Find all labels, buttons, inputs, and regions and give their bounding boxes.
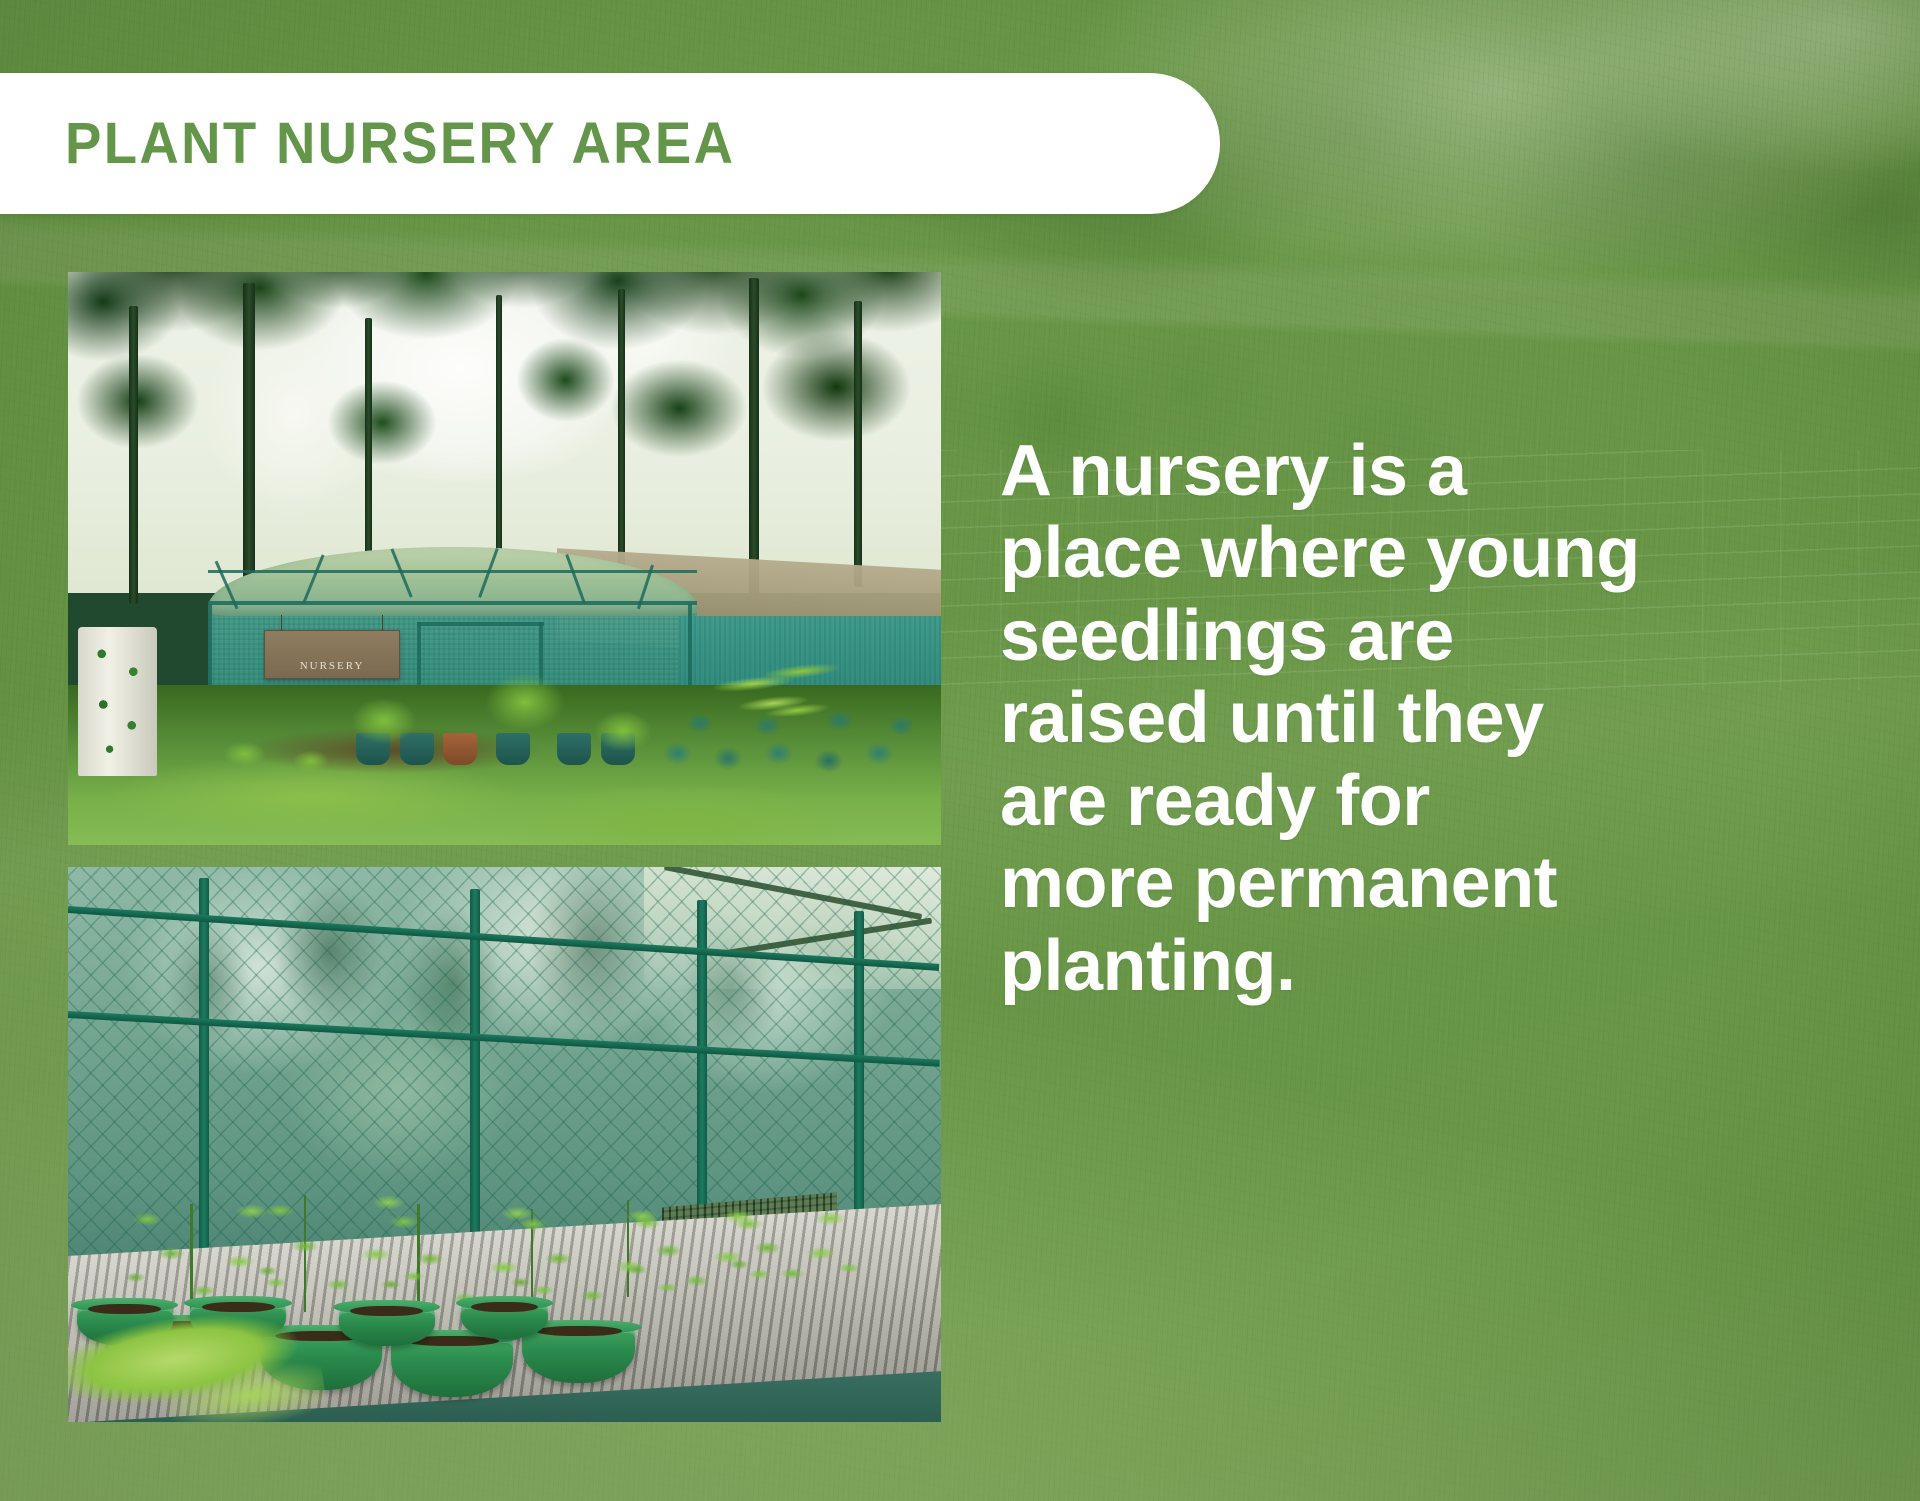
photo-tree-canopy (68, 272, 941, 593)
photo-shrub (339, 689, 429, 753)
photo-green-pot (522, 1329, 635, 1383)
photo-seedling-foliage (714, 1200, 871, 1293)
seedling-pots-photo (68, 867, 941, 1422)
photo-tree-trunk (129, 306, 138, 604)
photo-palm-plant (709, 627, 851, 760)
sign-rope (382, 615, 383, 631)
photo-green-pot (391, 1339, 513, 1398)
body-line: A nursery is a (1000, 430, 1860, 512)
photo-potting-soil (350, 1306, 423, 1316)
photo-tree-trunk (243, 283, 255, 604)
nursery-sign-label: NURSERY (300, 660, 365, 672)
body-line: are ready for (1000, 760, 1860, 842)
body-line: raised until they (1000, 677, 1860, 759)
photo-white-tower-planter (78, 627, 157, 776)
nursery-sign: NURSERY (264, 630, 399, 679)
photo-frame-eave (208, 601, 697, 605)
body-text: A nursery is a place where young seedlin… (1000, 430, 1860, 1007)
photo-frame-door-header (417, 622, 544, 626)
photo-tree-trunk (854, 301, 862, 588)
photo-shrub (286, 746, 336, 776)
body-line: seedlings are (1000, 595, 1860, 677)
page-title: PLANT NURSERY AREA (65, 115, 735, 173)
photo-frame-truss-chord (208, 570, 697, 573)
body-line: place where young (1000, 512, 1860, 594)
title-banner: PLANT NURSERY AREA (0, 73, 1220, 214)
greenhouse-nursery-photo: NURSERY (68, 272, 941, 845)
photo-shrub (216, 737, 274, 771)
photo-tree-trunk (496, 295, 502, 582)
photo-tree-trunk (618, 289, 625, 587)
photo-shrub (583, 703, 663, 759)
body-line: more permanent (1000, 842, 1860, 924)
photo-shrub (470, 662, 580, 742)
photo-potting-soil (536, 1326, 622, 1336)
body-line: planting. (1000, 925, 1860, 1007)
photo-potting-soil (471, 1302, 537, 1312)
sign-rope (281, 615, 282, 631)
